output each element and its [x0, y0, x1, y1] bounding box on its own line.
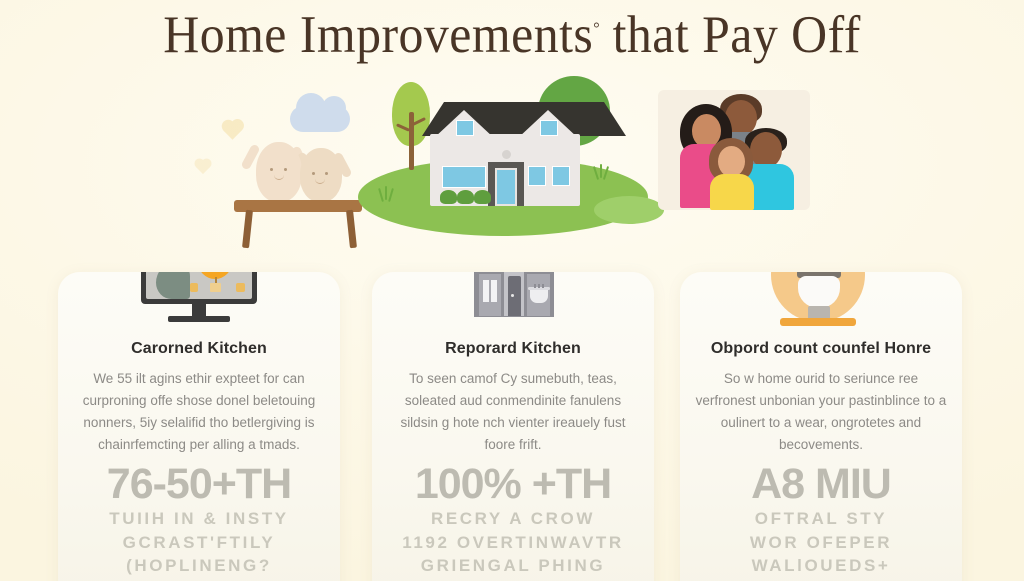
family-illustration	[658, 90, 810, 210]
card-stat: 76-50+TH TUIIH IN & INSTY GCRAST'FTILY (…	[58, 462, 340, 578]
card-title: Obpord count counfel Honre	[680, 340, 962, 358]
tree-trunk	[409, 112, 414, 170]
stat-sub-line-1: TUIIH IN & INSTY	[58, 507, 340, 530]
house-window	[456, 120, 474, 136]
heart-icon-small	[196, 160, 210, 174]
stat-sub-line-2: 1192 OVERTINWAVTR	[372, 531, 654, 554]
house-window	[528, 166, 546, 186]
toilet-badge-icon	[680, 272, 962, 334]
character-body	[300, 148, 342, 202]
stat-sub-line-3: WALlOUEDS+	[680, 554, 962, 577]
infographic-page: Home Improvements° that Pay Off	[0, 0, 1024, 581]
round-window	[502, 150, 511, 159]
page-title-marker: °	[593, 18, 599, 37]
improvement-card-1[interactable]: Carorned Kitchen We 55 ilt agins ethir e…	[58, 272, 340, 581]
card-title: Reporard Kitchen	[372, 340, 654, 358]
stat-value: 100% +TH	[372, 462, 654, 507]
card-stat: 100% +TH RECRY A CROW 1192 OVERTINWAVTR …	[372, 462, 654, 578]
house-window	[540, 120, 558, 136]
card-stat: A8 MIU OFTRAL STY WOR OFEPER WALlOUEDS+	[680, 462, 962, 578]
stat-value: A8 MIU	[680, 462, 962, 507]
improvement-card-3[interactable]: Obpord count counfel Honre So w home our…	[680, 272, 962, 581]
heart-icon	[223, 121, 241, 139]
card-body-text: So w home ourid to seriunce ree verfrone…	[694, 368, 948, 455]
page-title: Home Improvements° that Pay Off	[163, 9, 861, 62]
stat-sub-line-2: WOR OFEPER	[680, 531, 962, 554]
stat-sub-line-3: GRIENGAL PHING	[372, 554, 654, 577]
stat-sub-line-1: OFTRAL STY	[680, 507, 962, 530]
stat-sub-line-3: (HOPLINENG?	[58, 554, 340, 577]
cloud-icon	[290, 106, 350, 132]
grass-blade	[385, 186, 387, 200]
page-title-rest: that Pay Off	[613, 6, 861, 64]
grass-blade	[600, 164, 602, 178]
page-header: Home Improvements° that Pay Off	[0, 0, 1024, 70]
television-icon	[58, 272, 340, 334]
character-body	[256, 142, 302, 202]
stat-sub-line-2: GCRAST'FTILY	[58, 531, 340, 554]
page-title-main: Home Improvements	[163, 6, 593, 64]
card-title: Carorned Kitchen	[58, 340, 340, 358]
card-body-text: We 55 ilt agins ethir expteet for can cu…	[72, 368, 326, 455]
stat-value: 76-50+TH	[58, 462, 340, 507]
improvement-card-2[interactable]: Reporard Kitchen To seen camof Cy sumebu…	[372, 272, 654, 581]
stat-sub-line-1: RECRY A CROW	[372, 507, 654, 530]
card-row: Carorned Kitchen We 55 ilt agins ethir e…	[0, 200, 1024, 581]
house-window	[552, 166, 570, 186]
card-body-text: To seen camof Cy sumebuth, teas, soleate…	[386, 368, 640, 455]
storefront-icon	[372, 272, 654, 334]
house-window	[442, 166, 486, 188]
